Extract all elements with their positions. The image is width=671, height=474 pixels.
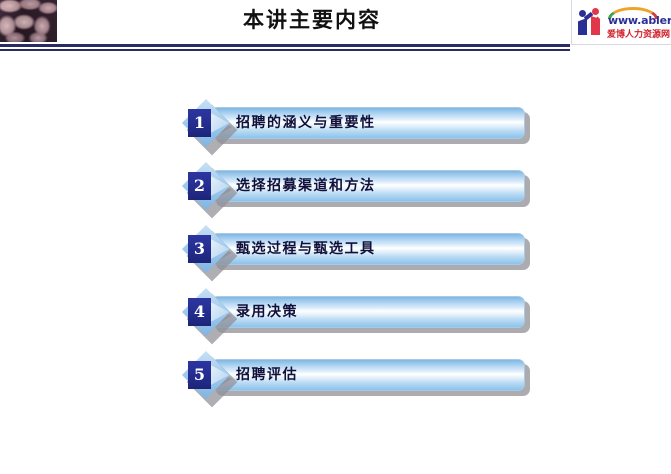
item-label: 招聘评估 (236, 359, 298, 391)
item-number: 2 (188, 172, 211, 200)
item-number: 5 (188, 361, 211, 389)
logo-chinese-text: 爱博人力资源网 (607, 27, 670, 40)
slide-header: 本讲主要内容 www.abler.cn 爱博人力资源网 (0, 0, 671, 44)
item-label: 招聘的涵义与重要性 (236, 107, 376, 139)
list-item[interactable]: 1 招聘的涵义与重要性 (185, 103, 525, 147)
item-number-badge: 2 (185, 166, 239, 210)
hands-photo-image (0, 0, 57, 42)
list-item[interactable]: 5 招聘评估 (185, 355, 525, 399)
agenda-list: 1 招聘的涵义与重要性 2 选择招募渠道和方法 (0, 55, 671, 474)
page-title: 本讲主要内容 (57, 3, 567, 37)
item-label: 选择招募渠道和方法 (236, 170, 376, 202)
hands-photo-overlay (0, 0, 57, 42)
item-number-badge: 4 (185, 292, 239, 336)
item-number: 4 (188, 298, 211, 326)
item-number-badge: 1 (185, 103, 239, 147)
list-item[interactable]: 3 甄选过程与甄选工具 (185, 229, 525, 273)
person-red-head-icon (592, 8, 599, 15)
logo-url-text: www.abler.cn (608, 14, 671, 27)
people-icon (578, 8, 606, 36)
list-item[interactable]: 2 选择招募渠道和方法 (185, 166, 525, 210)
list-item[interactable]: 4 录用决策 (185, 292, 525, 336)
item-number-badge: 5 (185, 355, 239, 399)
slide-canvas: 本讲主要内容 www.abler.cn 爱博人力资源网 (0, 0, 671, 474)
item-label: 甄选过程与甄选工具 (236, 233, 376, 265)
item-number-badge: 3 (185, 229, 239, 273)
item-number: 3 (188, 235, 211, 263)
header-rule-thick (0, 44, 570, 47)
person-blue-body-icon (578, 18, 587, 35)
site-logo[interactable]: www.abler.cn 爱博人力资源网 (571, 0, 671, 45)
header-rule-thin (0, 49, 570, 51)
item-label: 录用决策 (236, 296, 298, 328)
item-number: 1 (188, 109, 211, 137)
person-red-body-icon (591, 16, 600, 35)
